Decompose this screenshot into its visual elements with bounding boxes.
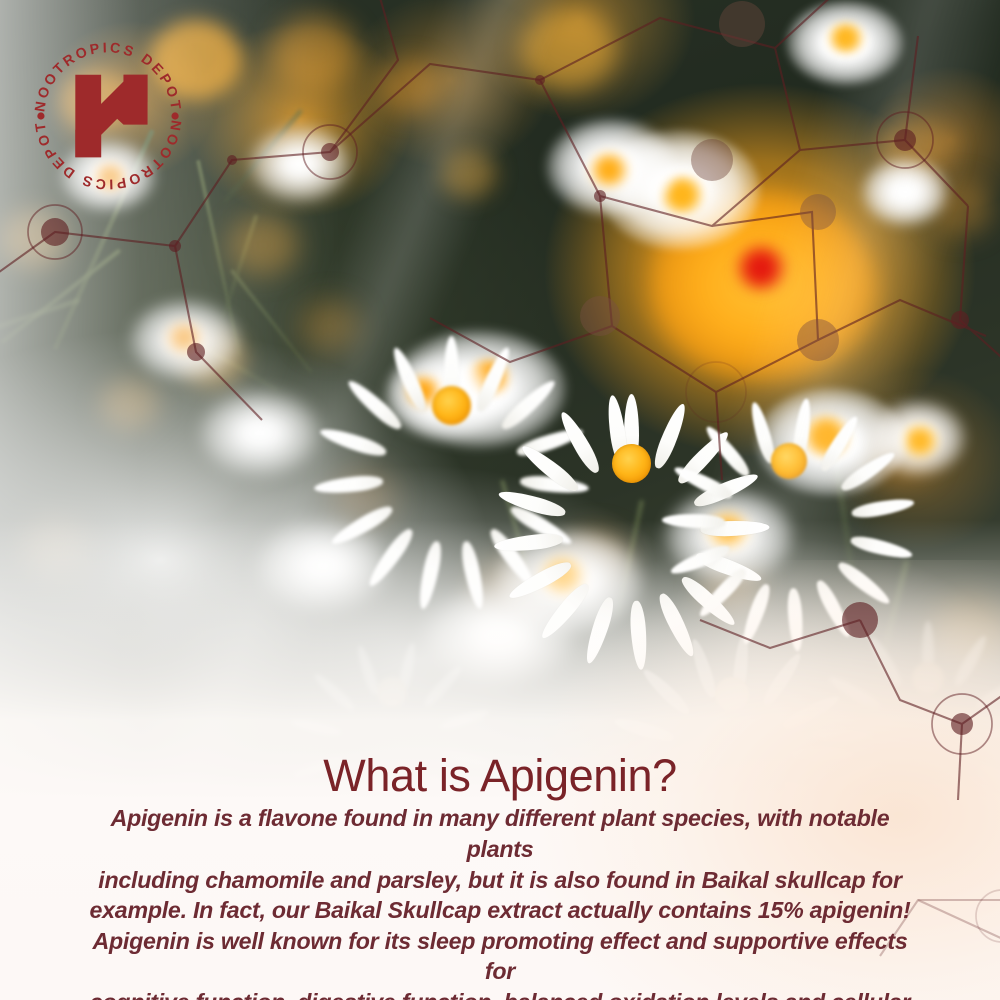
body-line-2: including chamomile and parsley, but it … xyxy=(98,867,901,893)
page-title: What is Apigenin? xyxy=(86,752,914,799)
body-line-4: Apigenin is well known for its sleep pro… xyxy=(92,928,907,985)
body-line-3: example. In fact, our Baikal Skullcap ex… xyxy=(90,897,911,923)
nootropics-depot-logo[interactable]: NOOTROPICS DEPOT NOOTROPICS DEPOT xyxy=(22,30,194,202)
logo-monogram-n xyxy=(75,75,147,158)
promo-graphic: NOOTROPICS DEPOT NOOTROPICS DEPOT What i… xyxy=(0,0,1000,1000)
logo-ring-text-bottom: NOOTROPICS DEPOT xyxy=(32,119,183,192)
body-line-1: Apigenin is a flavone found in many diff… xyxy=(111,805,890,862)
body-line-5: cognitive function, digestive function, … xyxy=(90,989,911,1000)
copy-block: What is Apigenin? Apigenin is a flavone … xyxy=(0,752,1000,1000)
svg-text:NOOTROPICS DEPOT: NOOTROPICS DEPOT xyxy=(32,119,183,192)
body-paragraph: Apigenin is a flavone found in many diff… xyxy=(86,803,914,1000)
